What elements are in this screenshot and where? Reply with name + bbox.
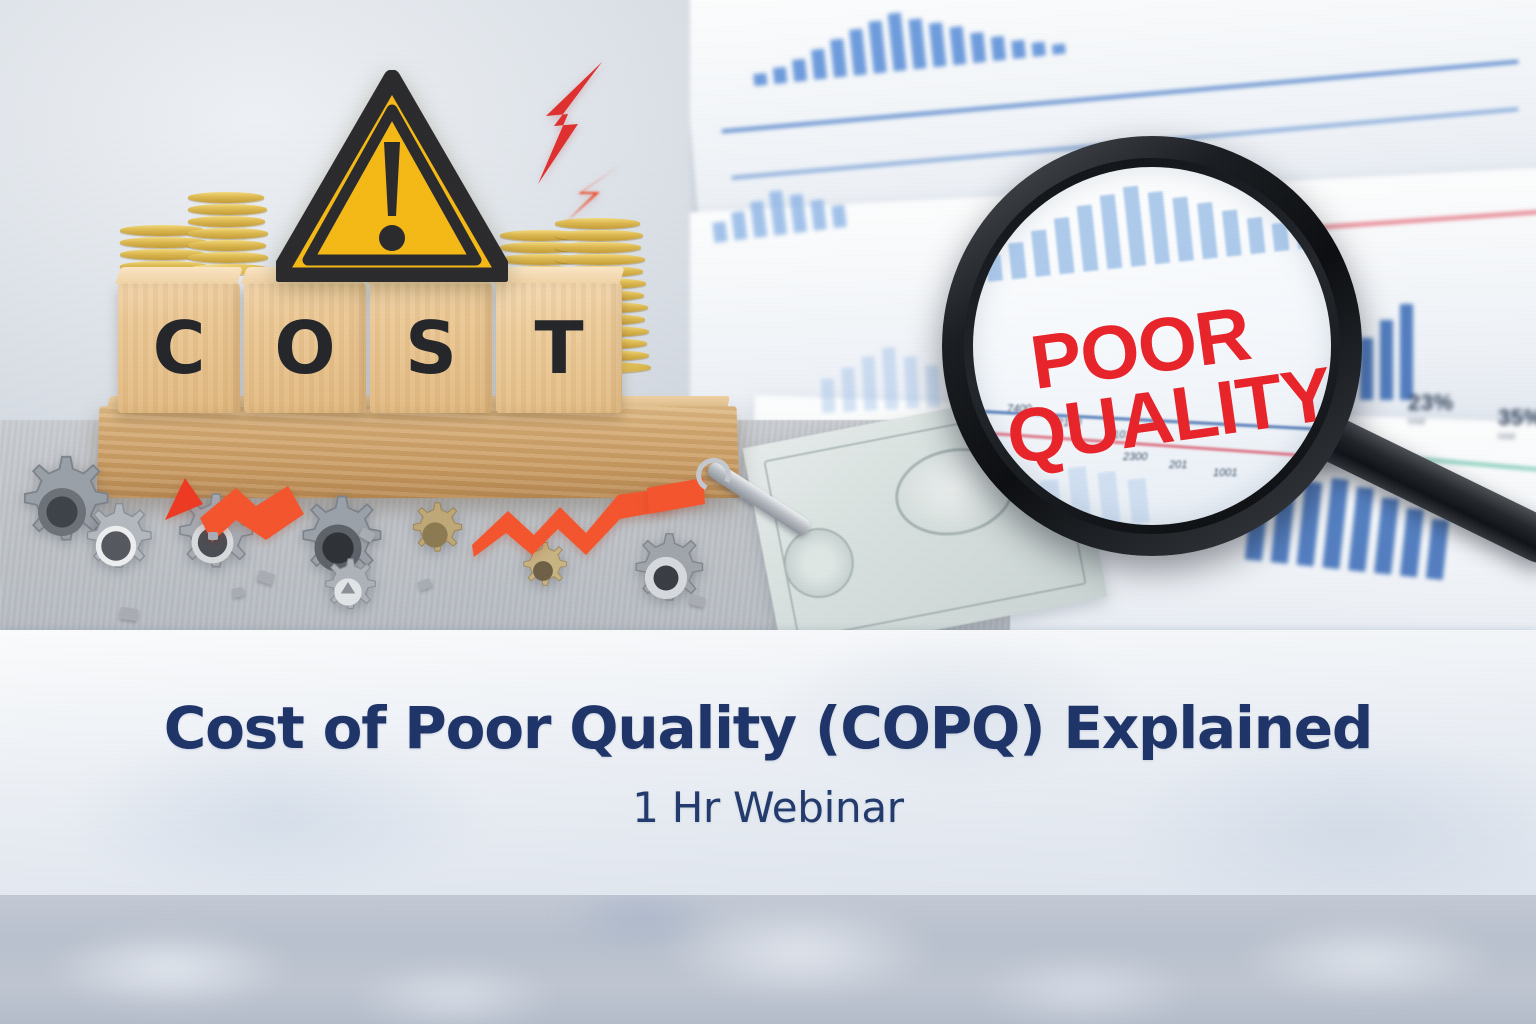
debris bbox=[208, 532, 218, 540]
lens-number: 1001 bbox=[1213, 467, 1237, 479]
gear-icon bbox=[70, 500, 162, 592]
background-bar-chart bbox=[818, 317, 941, 413]
letter-block-c: C bbox=[118, 283, 240, 413]
lens-number: 201 bbox=[1169, 459, 1187, 471]
block-letter: S bbox=[405, 306, 457, 390]
magnifier-lens: 7400 2100 101 2300 201 1001 POOR QUALITY bbox=[973, 167, 1331, 525]
gear-icon bbox=[312, 556, 384, 628]
cost-blocks: C O S T bbox=[118, 283, 622, 413]
magnifier-icon: 7400 2100 101 2300 201 1001 POOR QUALITY bbox=[942, 136, 1362, 556]
block-top-face bbox=[115, 267, 243, 284]
hero-photo: 23% total 35% total bbox=[0, 0, 1536, 640]
paper-label-35: 35% total bbox=[1498, 405, 1536, 441]
letter-block-o: O bbox=[244, 283, 366, 413]
gear-icon bbox=[400, 500, 470, 570]
coin-stack bbox=[188, 192, 270, 275]
letter-block-s: S bbox=[370, 283, 492, 413]
poor-quality-text: POOR QUALITY bbox=[993, 282, 1331, 475]
lens-bar-chart bbox=[980, 168, 1314, 282]
block-top-face bbox=[493, 267, 625, 284]
title-banner: Cost of Poor Quality (COPQ) Explained 1 … bbox=[0, 630, 1536, 895]
magnifier-rim: 7400 2100 101 2300 201 1001 POOR QUALITY bbox=[964, 158, 1340, 534]
webinar-banner-image: 23% total 35% total bbox=[0, 0, 1536, 1024]
block-letter: T bbox=[534, 306, 583, 390]
letter-block-t: T bbox=[496, 283, 622, 413]
paper-label-23: 23% total bbox=[1408, 390, 1454, 426]
debris bbox=[119, 607, 138, 621]
block-letter: C bbox=[153, 306, 206, 390]
page-title: Cost of Poor Quality (COPQ) Explained bbox=[164, 699, 1372, 757]
warning-triangle-icon bbox=[276, 70, 508, 282]
lightning-bolt-icon bbox=[560, 160, 626, 226]
bill-seal bbox=[778, 522, 860, 604]
page-subtitle: 1 Hr Webinar bbox=[632, 783, 904, 832]
block-letter: O bbox=[274, 306, 335, 390]
bottom-blurred-strip bbox=[0, 895, 1536, 1024]
